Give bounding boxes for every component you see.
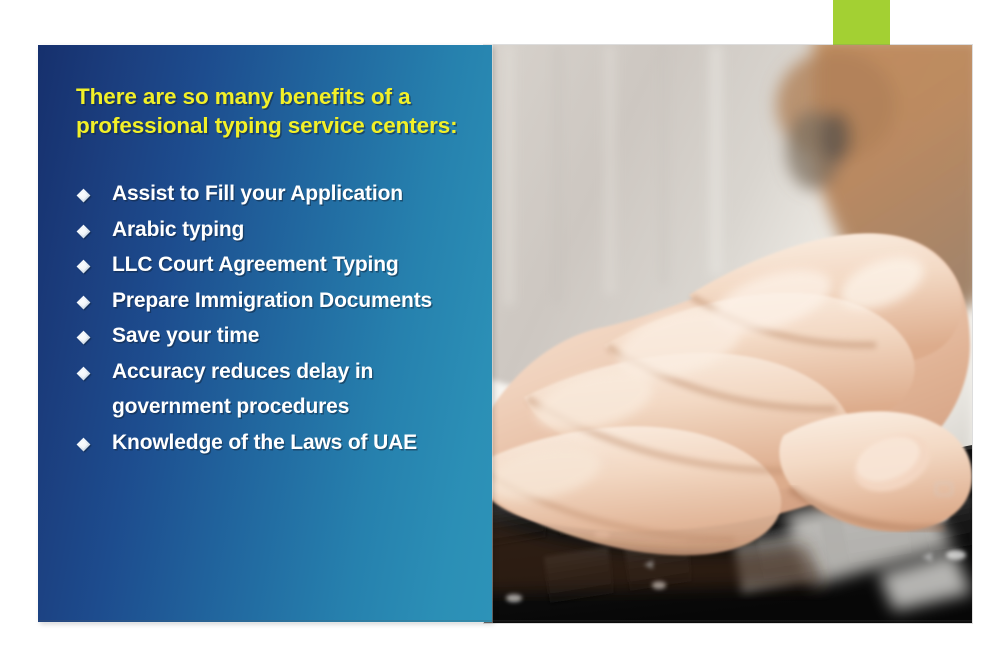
list-item-label: Knowledge of the Laws of UAE — [112, 431, 417, 454]
diamond-bullet-icon — [76, 188, 91, 203]
hand-typing-on-keyboard-photo — [484, 45, 972, 623]
list-item: Assist to Fill your Application — [74, 176, 478, 211]
list-item: Knowledge of the Laws of UAE — [74, 425, 478, 460]
list-item: Accuracy reduces delay in government pro… — [74, 354, 478, 425]
benefits-list: Assist to Fill your Application Arabic t… — [74, 176, 478, 460]
list-item-label: LLC Court Agreement Typing — [112, 253, 399, 276]
list-item: Save your time — [74, 318, 478, 353]
list-item-label: Save your time — [112, 324, 259, 347]
slide-canvas: There are so many benefits of a professi… — [0, 0, 1000, 650]
list-item-label: Assist to Fill your Application — [112, 182, 403, 205]
diamond-bullet-icon — [76, 224, 91, 239]
list-item-label: Accuracy reduces delay in government pro… — [112, 360, 373, 418]
list-item: LLC Court Agreement Typing — [74, 247, 478, 282]
green-accent-block — [833, 0, 890, 46]
list-item: Prepare Immigration Documents — [74, 283, 478, 318]
diamond-bullet-icon — [76, 295, 91, 310]
diamond-bullet-icon — [76, 259, 91, 274]
diamond-bullet-icon — [76, 437, 91, 452]
list-item-label: Arabic typing — [112, 218, 244, 241]
diamond-bullet-icon — [76, 366, 91, 381]
list-item: Arabic typing — [74, 212, 478, 247]
diamond-bullet-icon — [76, 330, 91, 345]
composition-base-shadow — [38, 620, 972, 623]
benefits-text-panel: There are so many benefits of a professi… — [38, 45, 492, 622]
page-title: There are so many benefits of a professi… — [76, 83, 468, 140]
list-item-label: Prepare Immigration Documents — [112, 289, 432, 312]
photo-illustration — [484, 45, 972, 623]
